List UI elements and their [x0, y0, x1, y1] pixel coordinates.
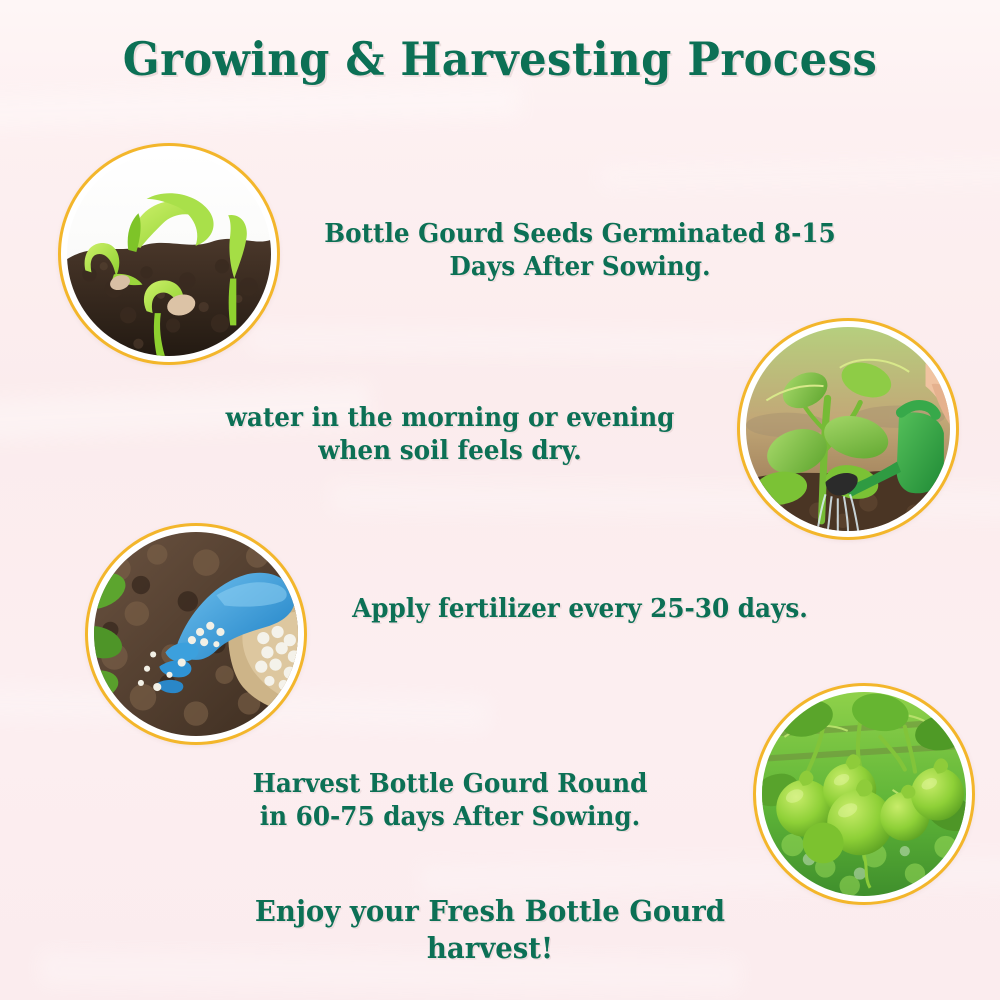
seedlings-illustration — [67, 152, 271, 356]
caption-line: Harvest Bottle Gourd Round — [213, 768, 688, 801]
closing-line: harvest! — [215, 930, 766, 967]
photo-clip — [67, 152, 271, 356]
photo-clip — [94, 532, 298, 736]
background-brush-stroke — [600, 156, 1000, 192]
watering-can-on-young-plant-photo — [737, 318, 959, 540]
caption-line: water in the morning or evening — [165, 402, 735, 435]
caption-line: Days After Sowing. — [295, 251, 865, 284]
germinating-seedlings-in-soil-photo — [58, 143, 280, 365]
bottle-gourds-illustration — [762, 692, 966, 896]
gloved-hand-spreading-fertilizer-photo — [85, 523, 307, 745]
closing-line: Enjoy your Fresh Bottle Gourd — [215, 893, 766, 930]
caption-line: Apply fertilizer every 25-30 days. — [305, 593, 856, 626]
caption-watering: water in the morning or evening when soi… — [165, 402, 735, 468]
closing-message: Enjoy your Fresh Bottle Gourd harvest! — [215, 893, 766, 966]
caption-germination: Bottle Gourd Seeds Germinated 8-15 Days … — [295, 218, 865, 284]
caption-harvest: Harvest Bottle Gourd Round in 60-75 days… — [213, 768, 688, 834]
photo-clip — [746, 327, 950, 531]
infographic-poster: Growing & Harvesting Process — [0, 0, 1000, 1000]
photo-clip — [762, 692, 966, 896]
caption-line: when soil feels dry. — [165, 435, 735, 468]
background-brush-stroke — [0, 84, 520, 130]
page-title: Growing & Harvesting Process — [30, 32, 970, 86]
round-bottle-gourds-on-vine-photo — [753, 683, 975, 905]
watering-illustration — [746, 327, 950, 531]
caption-line: in 60-75 days After Sowing. — [213, 801, 688, 834]
caption-fertilizer: Apply fertilizer every 25-30 days. — [305, 593, 856, 626]
caption-line: Bottle Gourd Seeds Germinated 8-15 — [295, 218, 865, 251]
fertilizer-illustration — [94, 532, 298, 736]
